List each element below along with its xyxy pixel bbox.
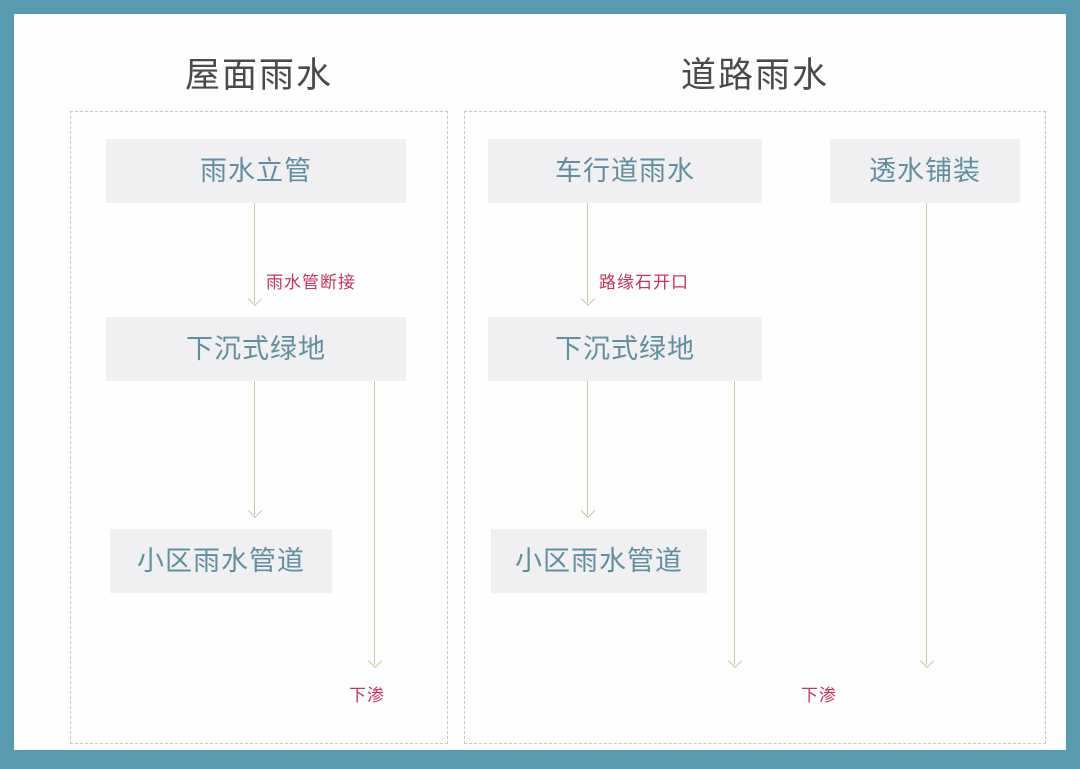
- connector-roadway-to-sunken: [587, 203, 588, 303]
- annotation-downpipe-disconnect: 雨水管断接: [266, 274, 356, 291]
- connector-sunken-to-infiltration-left: [374, 381, 375, 665]
- column-title-roof: 屋面雨水: [70, 58, 448, 93]
- node-sunken-green-left[interactable]: 下沉式绿地: [106, 317, 406, 381]
- connector-permeable-to-infiltration: [926, 203, 927, 665]
- node-sunken-green-right[interactable]: 下沉式绿地: [488, 317, 762, 381]
- annotation-infiltration-left: 下渗: [349, 687, 385, 704]
- node-community-pipe-right[interactable]: 小区雨水管道: [491, 529, 707, 593]
- connector-sunken-to-pipe-right: [587, 381, 588, 515]
- connector-sunken-to-pipe-left: [254, 381, 255, 515]
- diagram-canvas: 屋面雨水 道路雨水 雨水立管 下沉式绿地 小区雨水管道 车行道雨水 透水铺装 下…: [0, 0, 1080, 769]
- group-container-road: [464, 111, 1046, 744]
- node-permeable-paving[interactable]: 透水铺装: [830, 139, 1020, 203]
- diagram-sheet: 屋面雨水 道路雨水 雨水立管 下沉式绿地 小区雨水管道 车行道雨水 透水铺装 下…: [14, 14, 1066, 750]
- annotation-infiltration-right: 下渗: [801, 687, 837, 704]
- node-roadway-rain[interactable]: 车行道雨水: [488, 139, 762, 203]
- group-container-roof: [70, 111, 448, 744]
- connector-sunken-to-infiltration-right: [734, 381, 735, 665]
- connector-downpipe-to-sunken: [254, 203, 255, 303]
- column-title-road: 道路雨水: [464, 58, 1046, 93]
- annotation-curb-opening: 路缘石开口: [599, 274, 689, 291]
- node-community-pipe-left[interactable]: 小区雨水管道: [110, 529, 332, 593]
- node-downpipe[interactable]: 雨水立管: [106, 139, 406, 203]
